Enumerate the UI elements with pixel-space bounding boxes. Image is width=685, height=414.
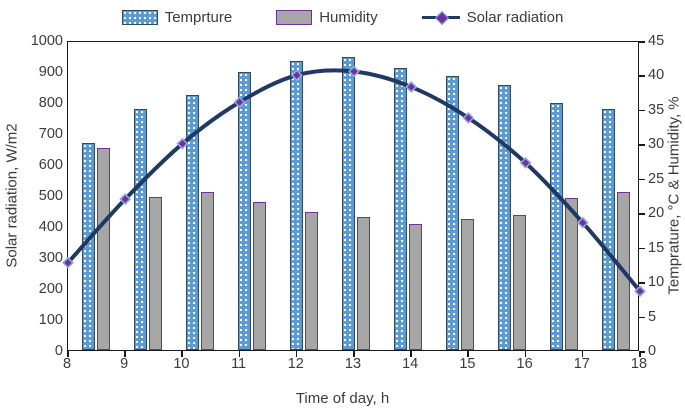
- legend-label-humidity: Humidity: [319, 10, 377, 25]
- y-axis-left-tick-label: 600: [39, 157, 63, 173]
- y-axis-right-tick-label: 15: [648, 240, 664, 256]
- x-axis-tick-label: 11: [231, 356, 246, 372]
- y-axis-right-tick-label: 35: [648, 102, 664, 118]
- x-axis-tick-label: 10: [173, 356, 189, 372]
- x-axis-title: Time of day, h: [0, 390, 685, 407]
- y-axis-left-tick-label: 700: [39, 126, 63, 142]
- temperature-bar-swatch-icon: [122, 10, 158, 25]
- y-axis-left-tick-label: 100: [39, 312, 63, 328]
- legend-item-humidity: Humidity: [276, 10, 377, 25]
- y-axis-left-tick-label: 500: [39, 188, 63, 204]
- y-axis-right-tick-label: 0: [648, 343, 656, 359]
- y-axis-right-labels: 051015202530354045: [648, 41, 678, 351]
- chart-container: Temprture Humidity Solar radiation Solar…: [0, 0, 685, 414]
- y-axis-right-tick-label: 45: [648, 33, 664, 49]
- y-axis-right-tick-label: 20: [648, 205, 664, 221]
- legend-label-solar-radiation: Solar radiation: [467, 10, 564, 25]
- legend-item-temprture: Temprture: [122, 10, 233, 25]
- y-axis-left-tick-label: 400: [39, 219, 63, 235]
- humidity-bar-swatch-icon: [276, 10, 312, 25]
- y-axis-left-tick-label: 800: [39, 95, 63, 111]
- y-axis-left-tick-label: 300: [39, 250, 63, 266]
- y-axis-left-tick-label: 900: [39, 64, 63, 80]
- y-axis-left-tick-label: 1000: [31, 33, 63, 49]
- x-axis-tick-label: 17: [574, 356, 590, 372]
- y-axis-right-tick-label: 25: [648, 171, 664, 187]
- solar-radiation-marker: [349, 67, 359, 77]
- solar-radiation-line: [68, 70, 640, 291]
- x-axis-tick-label: 16: [517, 356, 533, 372]
- x-axis-labels: 89101112131415161718: [67, 356, 639, 378]
- y-axis-right-tick-label: 40: [648, 67, 664, 83]
- x-axis-tick-label: 13: [345, 356, 361, 372]
- x-axis-tick-label: 15: [459, 356, 475, 372]
- legend-label-temprture: Temprture: [165, 10, 233, 25]
- y-axis-left-tick-label: 0: [55, 343, 63, 359]
- y-axis-right-tick-label: 10: [648, 274, 664, 290]
- y-axis-left-tick-label: 200: [39, 281, 63, 297]
- x-axis-tick-label: 14: [402, 356, 418, 372]
- legend-item-solar-radiation: Solar radiation: [422, 10, 564, 25]
- plot-area: [67, 41, 639, 351]
- y-axis-left-labels: 01002003004005006007008009001000: [18, 41, 63, 351]
- solar-line-swatch-icon: [422, 11, 460, 24]
- solar-radiation-marker: [292, 70, 302, 80]
- x-axis-tick-label: 12: [288, 356, 304, 372]
- y-axis-right-tick-label: 30: [648, 136, 664, 152]
- x-axis-tick-label: 9: [120, 356, 128, 372]
- y-axis-right-tick-label: 5: [648, 309, 656, 325]
- solar-radiation-line-layer: [68, 42, 640, 352]
- x-axis-tick-label: 8: [63, 356, 71, 372]
- chart-legend: Temprture Humidity Solar radiation: [0, 4, 685, 30]
- x-axis-tick-label: 18: [631, 356, 647, 372]
